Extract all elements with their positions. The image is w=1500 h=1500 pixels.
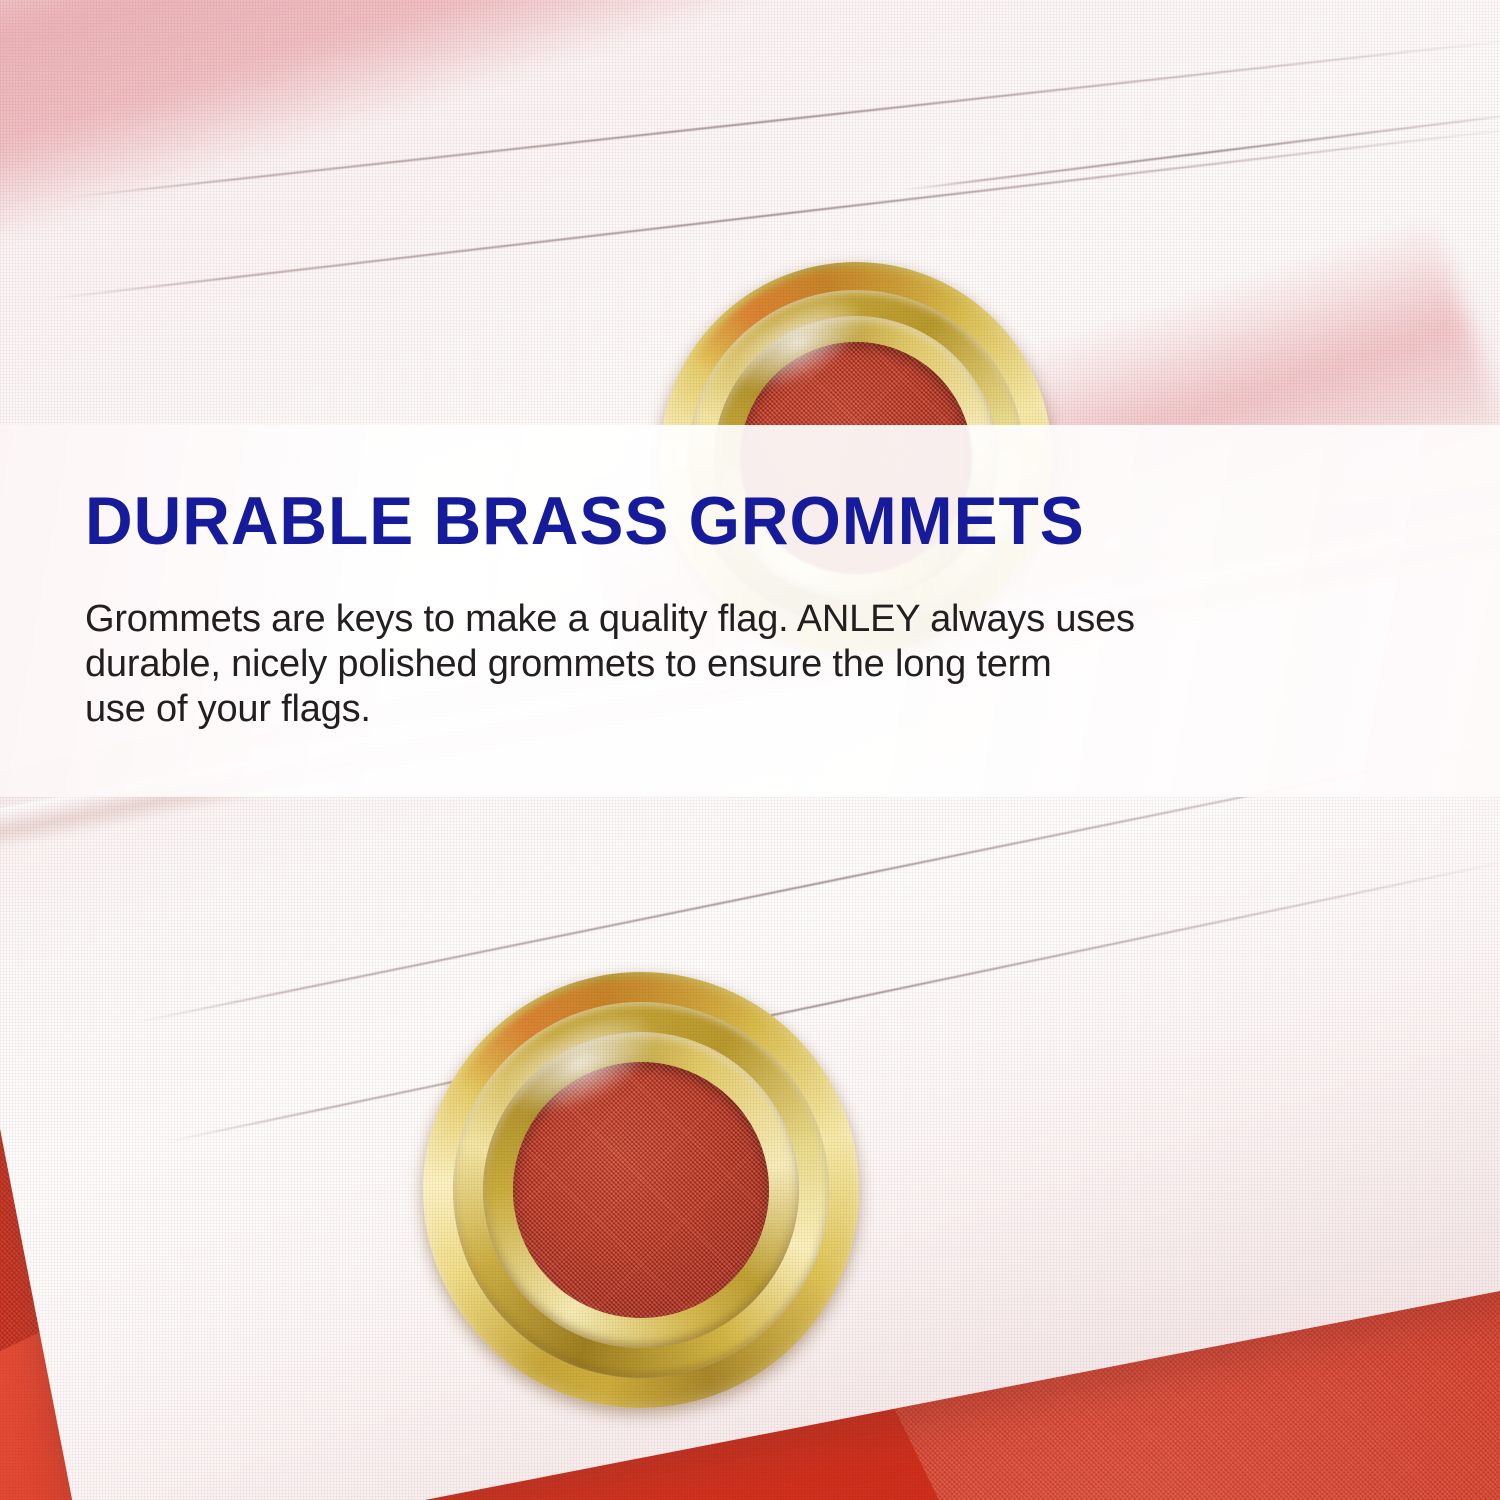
- feature-description-line: Grommets are keys to make a quality flag…: [85, 597, 1320, 642]
- feature-description-line: durable, nicely polished grommets to ens…: [85, 642, 1320, 687]
- feature-description-line: use of your flags.: [85, 687, 1320, 732]
- feature-description: Grommets are keys to make a quality flag…: [85, 597, 1320, 732]
- page-title: DURABLE BRASS GROMMETS: [85, 487, 1085, 555]
- product-feature-image: DURABLE BRASS GROMMETS Grommets are keys…: [0, 0, 1500, 1500]
